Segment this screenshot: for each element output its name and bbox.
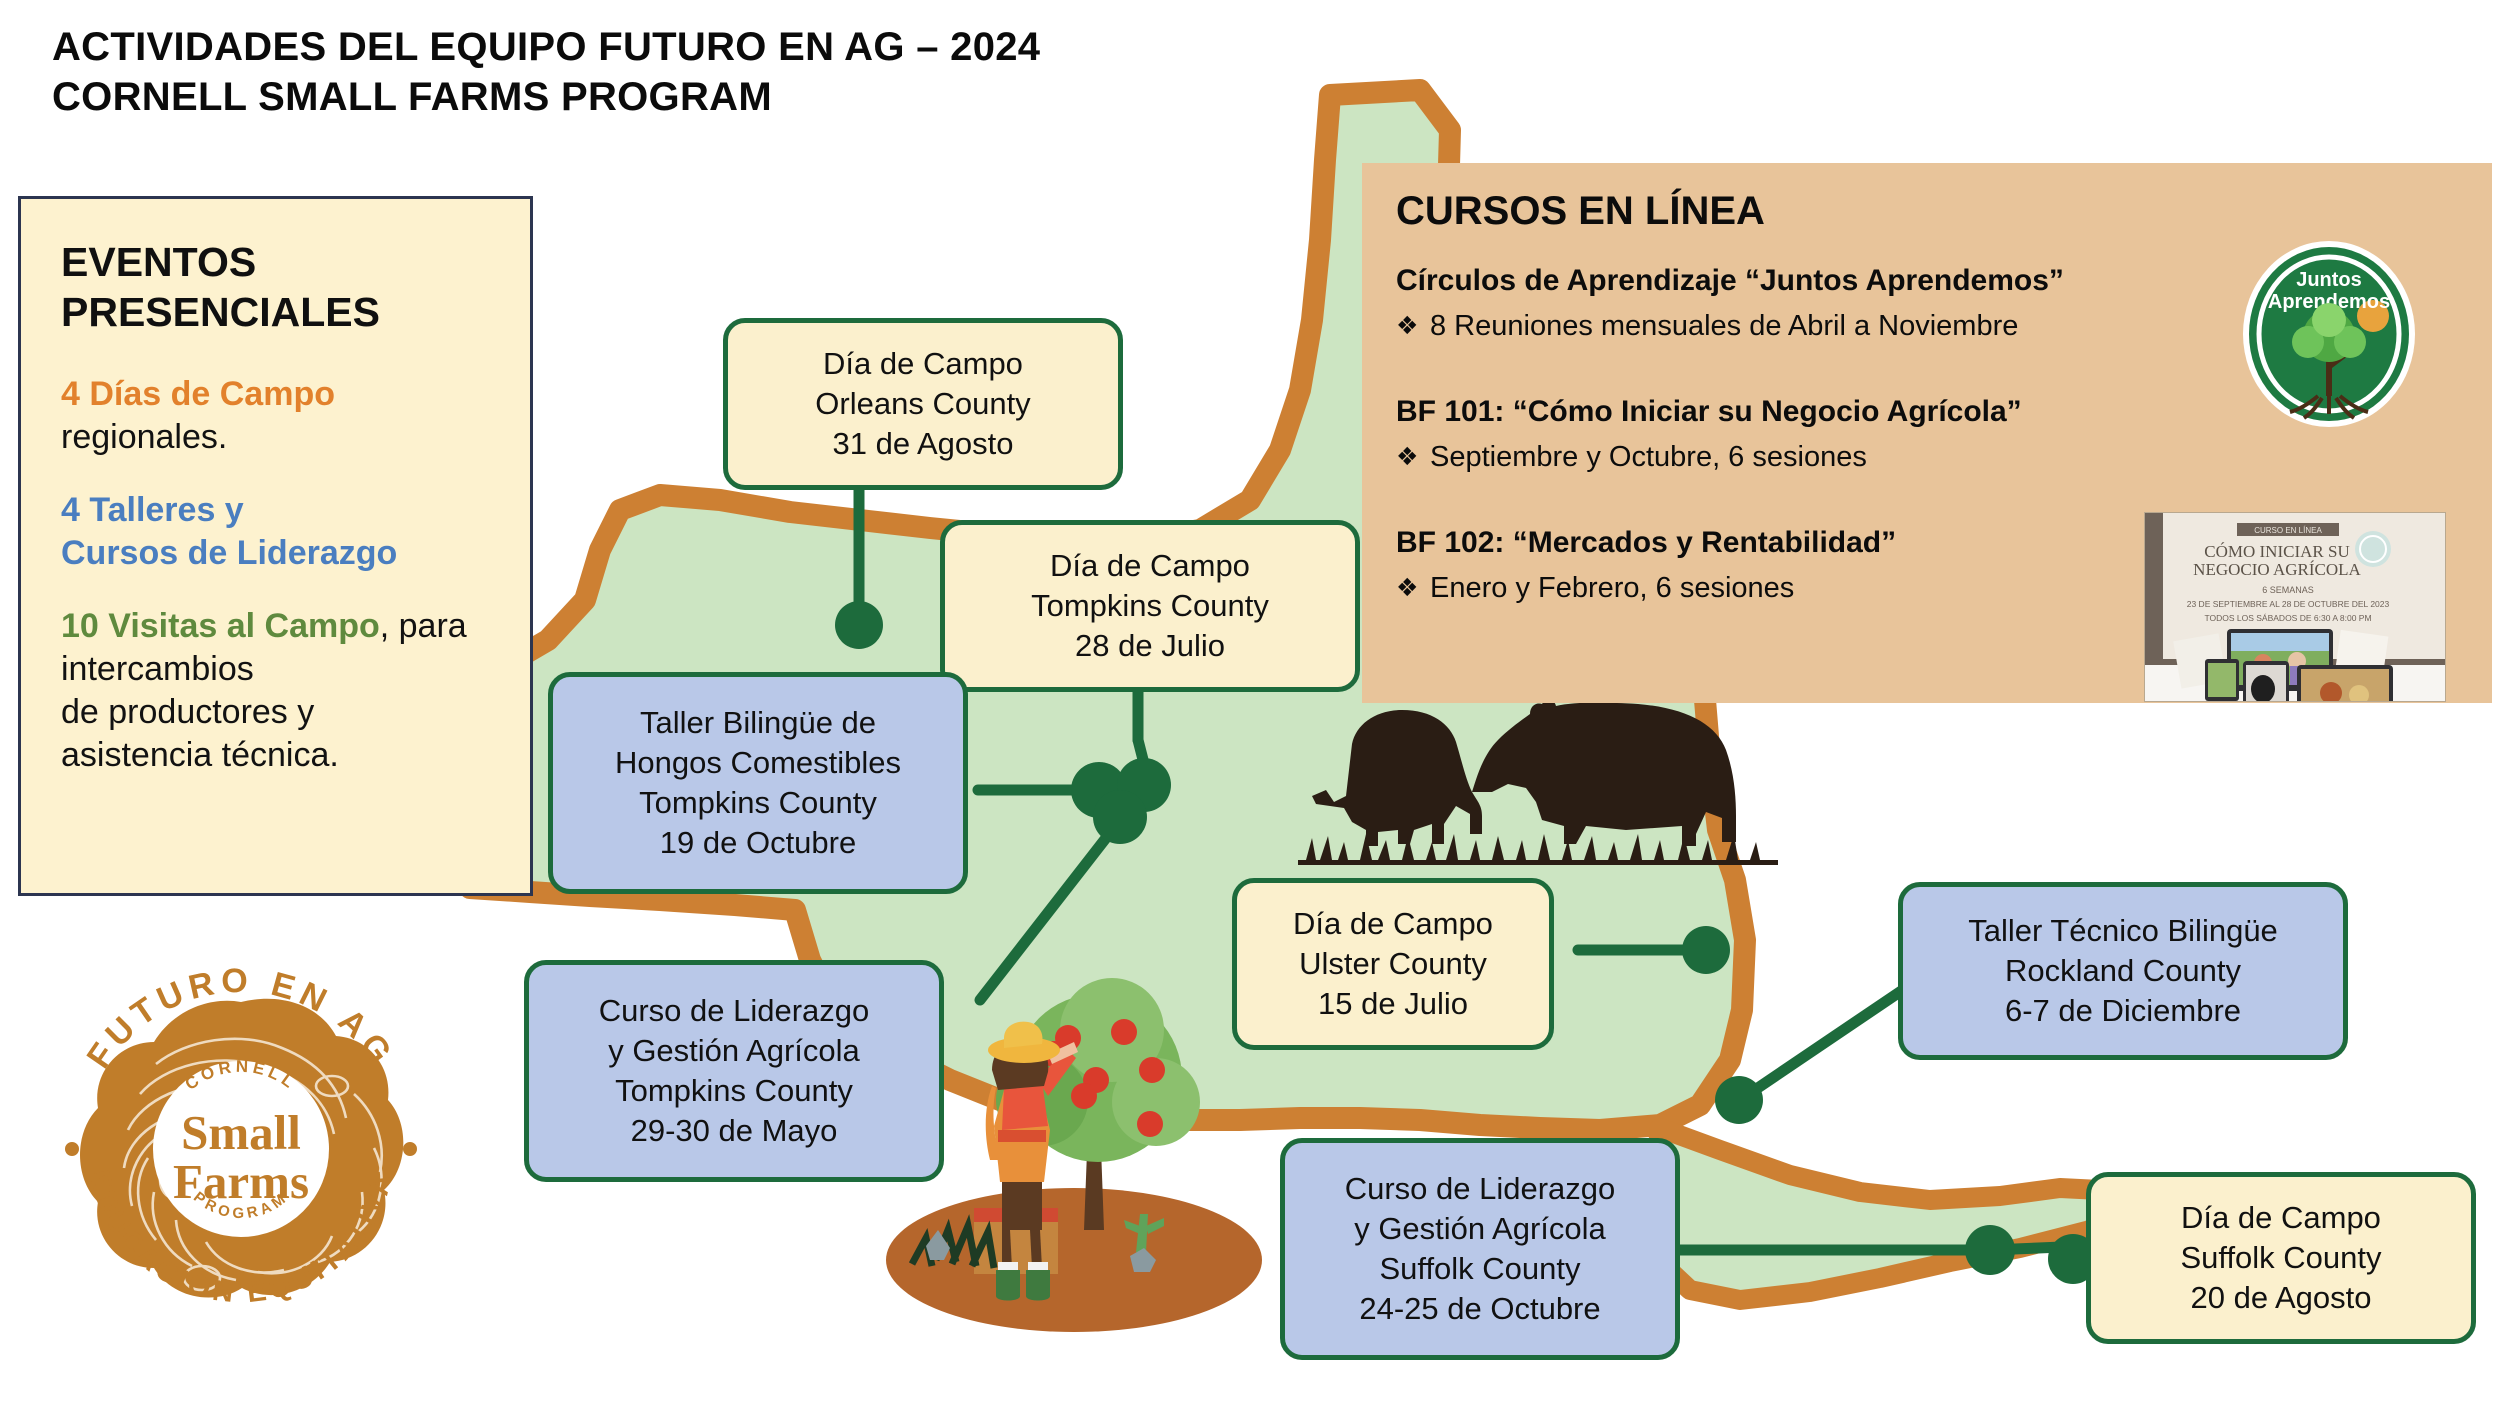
callout-suffolk-field-day-line-2: Suffolk County <box>2180 1238 2381 1278</box>
callout-ulster-line-1: Día de Campo <box>1293 904 1493 944</box>
course-bullet-text-circulos: 8 Reuniones mensuales de Abril a Noviemb… <box>1430 306 2018 346</box>
cattle-silhouette-illustration <box>1286 684 1798 880</box>
eventos-item-3: 10 Visitas al Campo, para intercambios d… <box>61 605 496 777</box>
callout-orleans-line-2: Orleans County <box>815 384 1030 424</box>
callout-tompkins-field-day-line-1: Día de Campo <box>1050 546 1250 586</box>
infographic-canvas: ACTIVIDADES DEL EQUIPO FUTURO EN AG – 20… <box>0 0 2500 1406</box>
eventos-item-2: 4 Talleres y Cursos de Liderazgo <box>61 489 496 575</box>
callout-ulster[interactable]: Día de Campo Ulster County 15 de Julio <box>1232 878 1554 1050</box>
callout-liderazgo-suffolk[interactable]: Curso de Liderazgo y Gestión Agrícola Su… <box>1280 1138 1680 1360</box>
flyer-title-line-2: NEGOCIO AGRÍCOLA <box>2193 560 2361 579</box>
flyer-schedule: TODOS LOS SÁBADOS DE 6:30 A 8:00 PM <box>2204 613 2371 623</box>
eventos-item-1: 4 Días de Campo regionales. <box>61 373 496 459</box>
callout-liderazgo-tompkins-line-2: y Gestión Agrícola <box>608 1031 860 1071</box>
eventos-item-1-highlight: 4 Días de Campo <box>61 375 335 413</box>
callout-rockland-line-2: Rockland County <box>2005 951 2241 991</box>
callout-rockland-line-3: 6-7 de Diciembre <box>2005 991 2241 1031</box>
callout-hongos-line-3: Tompkins County <box>639 783 877 823</box>
callout-orleans-line-3: 31 de Agosto <box>833 424 1014 464</box>
flyer-title-line-1: CÓMO INICIAR SU <box>2204 542 2349 561</box>
flyer-kicker: CURSO EN LÍNEA <box>2254 526 2322 535</box>
title-line-2: CORNELL SMALL FARMS PROGRAM <box>52 72 1452 122</box>
course-bullet-text-bf101: Septiembre y Octubre, 6 sesiones <box>1430 437 1867 477</box>
callout-suffolk-field-day-line-1: Día de Campo <box>2181 1198 2381 1238</box>
callout-hongos-line-2: Hongos Comestibles <box>615 743 901 783</box>
callout-orleans-line-1: Día de Campo <box>823 344 1023 384</box>
callout-rockland[interactable]: Taller Técnico Bilingüe Rockland County … <box>1898 882 2348 1060</box>
flyer-dates: 23 DE SEPTIEMBRE AL 28 DE OCTUBRE DEL 20… <box>2187 599 2390 609</box>
callout-suffolk-field-day[interactable]: Día de Campo Suffolk County 20 de Agosto <box>2086 1172 2476 1344</box>
callout-liderazgo-suffolk-line-2: y Gestión Agrícola <box>1354 1209 1606 1249</box>
callout-ulster-line-2: Ulster County <box>1299 944 1487 984</box>
eventos-item-3-rest-line-2: de productores y <box>61 693 314 731</box>
callout-liderazgo-suffolk-line-1: Curso de Liderazgo <box>1345 1169 1616 1209</box>
diamond-bullet-icon: ❖ <box>1396 437 1416 477</box>
callout-liderazgo-tompkins-line-1: Curso de Liderazgo <box>599 991 870 1031</box>
seal-line-1: Juntos <box>2296 269 2362 291</box>
bf101-flyer-thumbnail: CURSO EN LÍNEA CÓMO INICIAR SU NEGOCIO A… <box>2144 512 2446 702</box>
cornell-small-farms-logo: FUTURO EN AG EDUCACIÓN EQUITATIVA CORNEL… <box>36 944 446 1354</box>
callout-tompkins-field-day[interactable]: Día de Campo Tompkins County 28 de Julio <box>940 520 1360 692</box>
callout-hongos-comestibles[interactable]: Taller Bilingüe de Hongos Comestibles To… <box>548 672 968 894</box>
eventos-item-3-rest-line-3: asistencia técnica. <box>61 736 339 774</box>
callout-liderazgo-suffolk-line-4: 24-25 de Octubre <box>1359 1289 1600 1329</box>
callout-tompkins-field-day-line-3: 28 de Julio <box>1075 626 1225 666</box>
eventos-item-2-highlight-line-2: Cursos de Liderazgo <box>61 534 397 572</box>
eventos-heading-line-2: PRESENCIALES <box>61 287 496 337</box>
logo-inner-main-line-1: Small <box>181 1105 301 1160</box>
callout-ulster-line-3: 15 de Julio <box>1318 984 1468 1024</box>
callout-orleans[interactable]: Día de Campo Orleans County 31 de Agosto <box>723 318 1123 490</box>
diamond-bullet-icon: ❖ <box>1396 306 1416 346</box>
course-bullet-text-bf102: Enero y Febrero, 6 sesiones <box>1430 568 1794 608</box>
flyer-weeks: 6 SEMANAS <box>2262 585 2314 595</box>
course-bullet-bf101: ❖ Septiembre y Octubre, 6 sesiones <box>1396 437 2462 477</box>
logo-inner-main-line-2: Farms <box>173 1154 309 1209</box>
eventos-item-1-rest: regionales. <box>61 418 227 456</box>
callout-rockland-line-1: Taller Técnico Bilingüe <box>1968 911 2278 951</box>
callout-liderazgo-tompkins[interactable]: Curso de Liderazgo y Gestión Agrícola To… <box>524 960 944 1182</box>
callout-tompkins-field-day-line-2: Tompkins County <box>1031 586 1269 626</box>
eventos-item-2-highlight-line-1: 4 Talleres y <box>61 491 244 529</box>
title-line-1: ACTIVIDADES DEL EQUIPO FUTURO EN AG – 20… <box>52 22 1452 72</box>
callout-hongos-line-4: 19 de Octubre <box>660 823 856 863</box>
diamond-bullet-icon: ❖ <box>1396 568 1416 608</box>
callout-liderazgo-suffolk-line-3: Suffolk County <box>1379 1249 1580 1289</box>
callout-liderazgo-tompkins-line-4: 29-30 de Mayo <box>631 1111 838 1151</box>
eventos-heading-line-1: EVENTOS <box>61 237 496 287</box>
cursos-heading: CURSOS EN LÍNEA <box>1396 185 2462 237</box>
eventos-presenciales-panel: EVENTOS PRESENCIALES 4 Días de Campo reg… <box>18 196 533 896</box>
callout-liderazgo-tompkins-line-3: Tompkins County <box>615 1071 853 1111</box>
callout-suffolk-field-day-line-3: 20 de Agosto <box>2191 1278 2372 1318</box>
eventos-item-3-highlight: 10 Visitas al Campo <box>61 607 380 645</box>
page-title: ACTIVIDADES DEL EQUIPO FUTURO EN AG – 20… <box>52 22 1452 122</box>
juntos-aprendemos-logo: Juntos Aprendemos <box>2240 238 2418 430</box>
callout-hongos-line-1: Taller Bilingüe de <box>640 703 876 743</box>
